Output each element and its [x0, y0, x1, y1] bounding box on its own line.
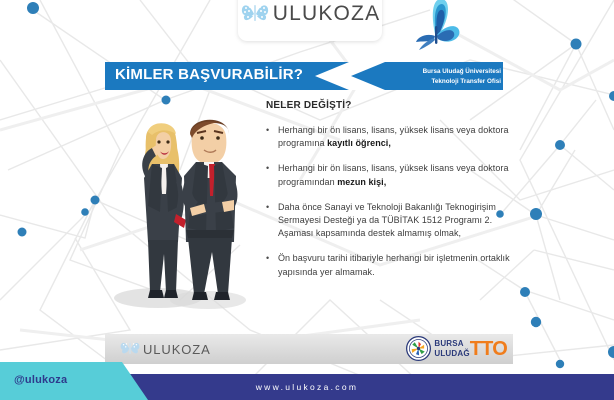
bullet-item: •Herhangi bir ön lisans, lisans, yüksek … — [266, 124, 516, 150]
banner-organization: Bursa Uludağ Üniversitesi Teknoloji Tran… — [389, 67, 501, 86]
man-figure — [183, 120, 238, 300]
bullet-segment: Ön başvuru tarihi itibariyle herhangi bi… — [278, 253, 510, 276]
bullet-marker: • — [266, 162, 270, 188]
social-handle-text: @ulukoza — [14, 374, 67, 386]
content-heading: NELER DEĞİŞTİ? — [266, 100, 516, 111]
tto-logo: BURSA ULUDAĞ TTO — [406, 336, 507, 361]
banner-title: KİMLER BAŞVURABİLİR? — [115, 66, 303, 83]
butterfly-icon — [404, 0, 470, 58]
tto-line1: BURSA — [434, 339, 469, 349]
bullet-text: Ön başvuru tarihi itibariyle herhangi bi… — [278, 252, 516, 278]
ulukoza-footer-wordmark: ULUKOZA — [143, 342, 211, 357]
banner-org-line1: Bursa Uludağ Üniversitesi — [389, 67, 501, 77]
ulukoza-butterfly-icon — [119, 339, 141, 359]
tto-line2: ULUDAĞ — [434, 349, 469, 359]
ulukoza-wordmark: ULUKOZA — [273, 2, 381, 26]
bursa-uludag-university-seal-icon — [406, 336, 431, 361]
bullet-marker: • — [266, 124, 270, 150]
bullet-text: Herhangi bir ön lisans, lisans, yüksek l… — [278, 124, 516, 150]
bullet-list: •Herhangi bir ön lisans, lisans, yüksek … — [266, 124, 516, 279]
content-block: NELER DEĞİŞTİ? •Herhangi bir ön lisans, … — [266, 100, 516, 291]
bullet-marker: • — [266, 201, 270, 241]
double-chevron-left-icon — [315, 62, 385, 90]
bullet-item: •Ön başvuru tarihi itibariyle herhangi b… — [266, 252, 516, 278]
ulukoza-logo-card: ULUKOZA — [238, 0, 382, 41]
bullet-text: Daha önce Sanayi ve Teknoloji Bakanlığı … — [278, 201, 516, 241]
bullet-emphasis: kayıtlı öğrenci, — [327, 138, 391, 148]
bullet-marker: • — [266, 252, 270, 278]
bullet-item: •Daha önce Sanayi ve Teknoloji Bakanlığı… — [266, 201, 516, 241]
woman-figure — [142, 123, 186, 298]
presentation-slide: ULUKOZA KİMLER BAŞVURABİLİR? Bursa Uluda… — [0, 0, 614, 400]
bullet-segment: Herhangi bir ön lisans, lisans, yüksek l… — [278, 163, 509, 186]
bullet-segment: Daha önce Sanayi ve Teknoloji Bakanlığı … — [278, 202, 496, 238]
bullet-emphasis: mezun kişi, — [337, 177, 386, 187]
ulukoza-footer-logo: ULUKOZA — [119, 339, 211, 359]
banner-org-line2: Teknoloji Transfer Ofisi — [389, 77, 501, 87]
ulukoza-butterfly-icon — [240, 0, 270, 28]
two-business-people-illustration — [112, 102, 248, 312]
section-banner: KİMLER BAŞVURABİLİR? Bursa Uludağ Üniver… — [105, 62, 503, 90]
bullet-segment: Herhangi bir ön lisans, lisans, yüksek l… — [278, 125, 509, 148]
tto-letters: TTO — [470, 338, 507, 360]
bullet-text: Herhangi bir ön lisans, lisans, yüksek l… — [278, 162, 516, 188]
partner-logo-bar: ULUKOZA BURSA ULUDAĞ TTO — [105, 334, 513, 364]
bullet-item: •Herhangi bir ön lisans, lisans, yüksek … — [266, 162, 516, 188]
